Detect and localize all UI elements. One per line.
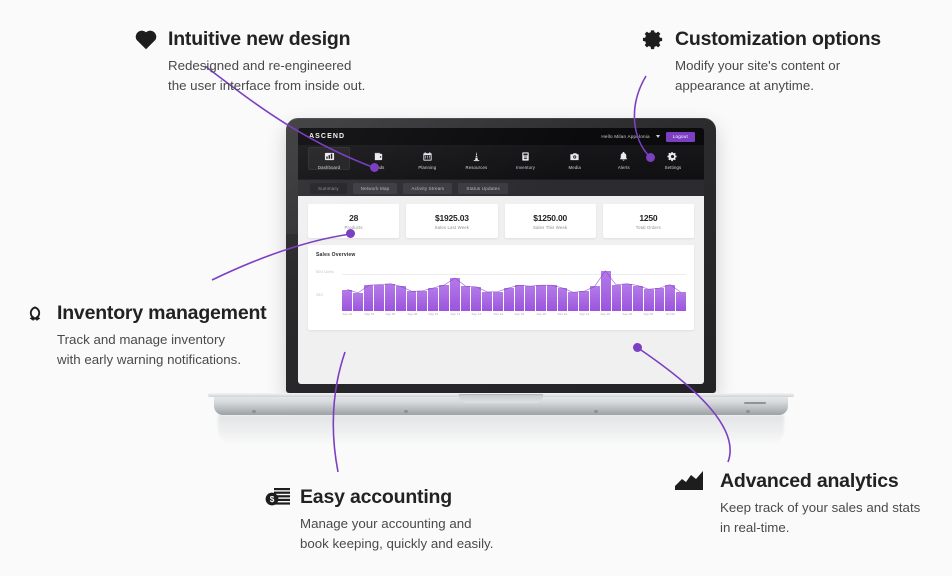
app-topbar: ASCEND Hello Milan Appelonia Logout	[298, 128, 704, 145]
nav-item-label: Media	[568, 165, 580, 170]
nav-item-alerts[interactable]: Alerts	[603, 147, 645, 170]
brand-logo: ASCEND	[309, 133, 345, 140]
connector-dot-settings	[646, 153, 655, 162]
laptop-screen: ASCEND Hello Milan Appelonia Logout Dash…	[298, 128, 704, 384]
x-tick-label: Sep 02	[342, 312, 352, 316]
x-tick-label: Sep 08	[407, 312, 417, 316]
laptop-base	[214, 393, 788, 415]
x-tick-label: Sep 28	[622, 312, 632, 316]
tab-activity-stream[interactable]: Activity Stream	[403, 183, 452, 194]
laptop-base-notch	[459, 394, 543, 403]
feature-customization-options: Customization options Modify your site's…	[640, 26, 881, 96]
dashboard-content: 28Products$1925.03Sales Last Week$1250.0…	[298, 196, 704, 384]
tab-network-map[interactable]: Network Map	[353, 183, 398, 194]
feature-description: Modify your site's content or appearance…	[675, 56, 881, 96]
refresh-icon	[22, 300, 48, 326]
tab-summary[interactable]: Summary	[310, 183, 347, 194]
nav-item-planning[interactable]: Planning	[406, 147, 448, 170]
feature-title: Easy accounting	[300, 486, 452, 509]
connector-dot-dashboard	[370, 163, 379, 172]
feature-title: Inventory management	[57, 302, 266, 325]
feature-easy-accounting: $ Easy accounting Manage your accounting…	[265, 484, 493, 554]
feature-desc-line1: Keep track of your sales and stats	[720, 498, 920, 518]
money-invoice-icon: $	[265, 484, 291, 510]
feature-advanced-analytics: Advanced analytics Keep track of your sa…	[675, 468, 920, 538]
tower-icon	[471, 150, 482, 163]
nav-item-label: Planning	[418, 165, 436, 170]
stat-value: 1250	[639, 213, 657, 223]
laptop-foot	[594, 410, 598, 413]
x-tick-label: Sep 16	[493, 312, 503, 316]
box-icon	[520, 150, 531, 163]
nav-item-label: Resources	[465, 165, 487, 170]
stat-card: $1250.00Sales This Week	[505, 204, 596, 238]
feature-desc-line1: Track and manage inventory	[57, 330, 266, 350]
nav-item-dashboard[interactable]: Dashboard	[308, 147, 350, 170]
feature-description: Keep track of your sales and stats in re…	[720, 498, 920, 538]
x-tick-label: Sep 14	[471, 312, 481, 316]
feature-desc-line1: Manage your accounting and	[300, 514, 493, 534]
feature-title: Customization options	[675, 28, 881, 51]
stat-value: $1250.00	[533, 213, 567, 223]
feature-intuitive-new-design: Intuitive new design Redesigned and re-e…	[133, 26, 365, 96]
nav-item-label: Dashboard	[318, 165, 340, 170]
bell-icon	[618, 150, 629, 163]
wallet-icon	[373, 150, 384, 163]
main-navigation: DashboardFundsPlanningResourcesInventory…	[298, 145, 704, 180]
nav-item-inventory[interactable]: Inventory	[505, 147, 547, 170]
x-tick-label: Sep 20	[536, 312, 546, 316]
feature-description: Track and manage inventory with early wa…	[57, 330, 266, 370]
feature-description: Manage your accounting and book keeping,…	[300, 514, 493, 554]
feature-title: Advanced analytics	[720, 470, 898, 493]
feature-desc-line2: appearance at anytime.	[675, 76, 881, 96]
heart-icon	[133, 26, 159, 52]
feature-desc-line1: Modify your site's content or	[675, 56, 881, 76]
camera-icon	[569, 150, 580, 163]
feature-desc-line2: in real-time.	[720, 518, 920, 538]
stat-card-row: 28Products$1925.03Sales Last Week$1250.0…	[308, 204, 694, 238]
calendar-icon	[422, 150, 433, 163]
logout-button[interactable]: Logout	[666, 132, 695, 142]
nav-item-label: Settings	[665, 165, 682, 170]
feature-title: Intuitive new design	[168, 28, 350, 51]
stat-value: 28	[349, 213, 358, 223]
stat-value: $1925.03	[435, 213, 469, 223]
laptop-foot	[252, 410, 256, 413]
nav-item-media[interactable]: Media	[554, 147, 596, 170]
feature-desc-line2: the user interface from inside out.	[168, 76, 365, 96]
feature-description: Redesigned and re-engineered the user in…	[168, 56, 365, 96]
sales-overview-card: Sales Overview 500 Units 250 Sep 02Sep 0…	[308, 245, 694, 330]
gear-icon	[640, 26, 666, 52]
topbar-right: Hello Milan Appelonia Logout	[601, 128, 695, 145]
laptop-reflection	[218, 415, 784, 445]
chart-title: Sales Overview	[316, 252, 686, 258]
stat-card: $1925.03Sales Last Week	[406, 204, 497, 238]
nav-item-label: Alerts	[618, 165, 630, 170]
x-tick-label: Sep 18	[514, 312, 524, 316]
user-greeting: Hello Milan Appelonia	[601, 134, 649, 139]
x-tick-label: Sep 30	[643, 312, 653, 316]
bar-trend-icon	[675, 468, 703, 494]
stat-label: Sales Last Week	[435, 225, 469, 230]
stat-label: Sales This Week	[533, 225, 567, 230]
laptop-base-slot	[744, 402, 766, 404]
gear-icon	[667, 150, 678, 163]
x-tick-label: Sep 22	[557, 312, 567, 316]
x-tick-label: Sep 04	[364, 312, 374, 316]
chart-bar-icon	[324, 150, 335, 163]
nav-item-label: Inventory	[516, 165, 535, 170]
x-tick-label: Sep 12	[450, 312, 460, 316]
chart-plot-area: 500 Units 250 Sep 02Sep 04Sep 06Sep 08Se…	[316, 265, 686, 320]
svg-text:$: $	[270, 495, 275, 504]
x-tick-label: Sep 10	[428, 312, 438, 316]
connector-dot-chart	[633, 343, 642, 352]
feature-desc-line1: Redesigned and re-engineered	[168, 56, 365, 76]
nav-item-settings[interactable]: Settings	[652, 147, 694, 170]
feature-desc-line2: book keeping, quickly and easily.	[300, 534, 493, 554]
chart-x-axis: Sep 02Sep 04Sep 06Sep 08Sep 10Sep 12Sep …	[342, 312, 686, 320]
sub-tabbar: SummaryNetwork MapActivity StreamStatus …	[298, 180, 704, 196]
connector-dot-products	[346, 229, 355, 238]
stat-label: Total Orders	[636, 225, 661, 230]
x-tick-label: Oct 02	[665, 312, 675, 316]
stat-card: 1250Total Orders	[603, 204, 694, 238]
nav-item-resources[interactable]: Resources	[455, 147, 497, 170]
chevron-down-icon[interactable]	[656, 135, 660, 138]
x-tick-label: Sep 24	[579, 312, 589, 316]
laptop-foot	[404, 410, 408, 413]
feature-desc-line2: with early warning notifications.	[57, 350, 266, 370]
x-tick-label: Sep 06	[385, 312, 395, 316]
tab-status-updates[interactable]: Status Updates	[458, 183, 508, 194]
feature-inventory-management: Inventory management Track and manage in…	[22, 300, 266, 370]
laptop-foot	[746, 410, 750, 413]
x-tick-label: Sep 26	[600, 312, 610, 316]
